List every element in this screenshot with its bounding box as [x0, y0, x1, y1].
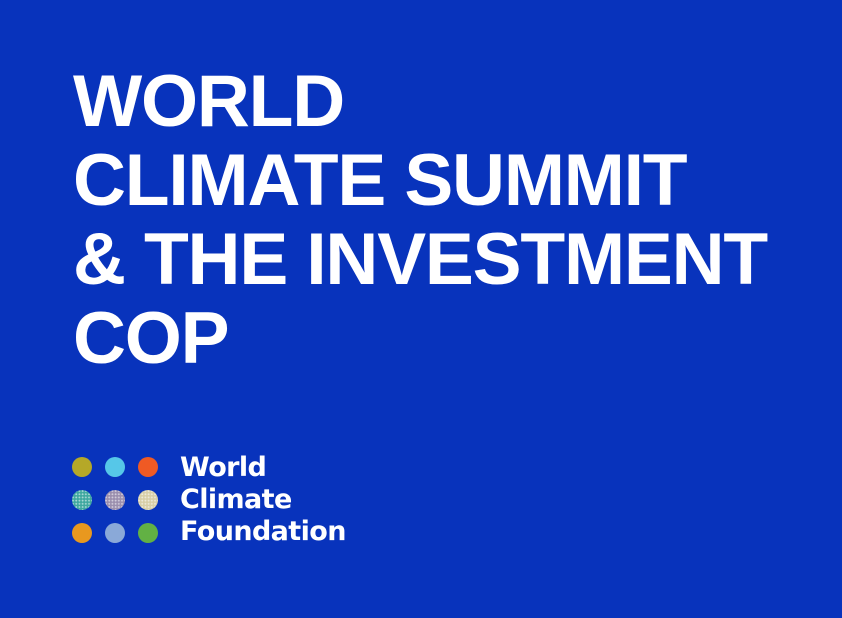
dot-amber [72, 523, 92, 543]
poster-canvas: WORLD CLIMATE SUMMIT & THE INVESTMENT CO… [0, 0, 842, 618]
dot-orange-red [138, 457, 158, 477]
wordmark-line-foundation: Foundation [180, 516, 346, 548]
headline-line-4: COP [73, 299, 817, 378]
dot-sky-blue [105, 457, 125, 477]
headline-line-2: CLIMATE SUMMIT [73, 141, 817, 220]
dot-sand [138, 490, 158, 510]
logo-wordmark: World Climate Foundation [180, 452, 346, 548]
dot-teal [72, 490, 92, 510]
world-climate-foundation-logo: World Climate Foundation [72, 452, 346, 548]
headline-line-1: WORLD [73, 62, 817, 141]
dot-green [138, 523, 158, 543]
dot-olive [72, 457, 92, 477]
page-title: WORLD CLIMATE SUMMIT & THE INVESTMENT CO… [73, 62, 813, 378]
dot-periwinkle [105, 523, 125, 543]
dot-mauve [105, 490, 125, 510]
wordmark-line-climate: Climate [180, 484, 346, 516]
logo-dot-grid [72, 457, 158, 543]
wordmark-line-world: World [180, 452, 346, 484]
headline-line-3: & THE INVESTMENT [73, 220, 817, 299]
